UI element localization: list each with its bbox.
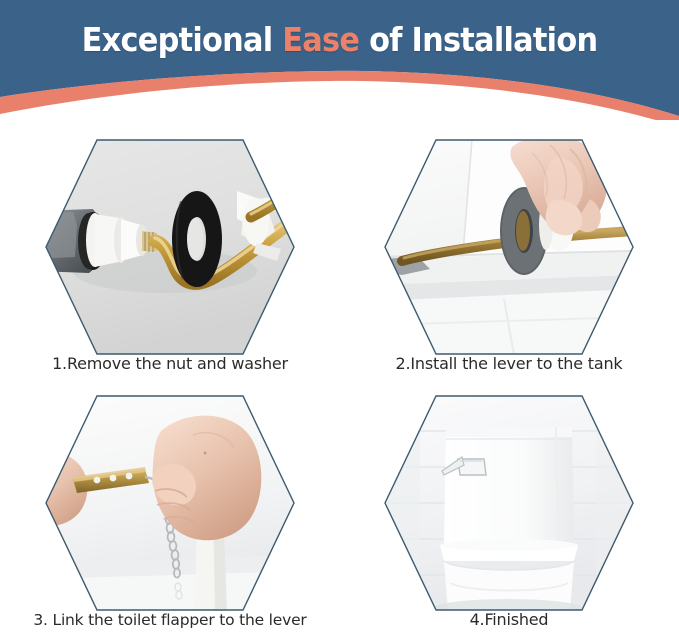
step-2-hexagon-frame	[384, 139, 634, 355]
install-lever-to-tank-photo	[384, 139, 634, 355]
header-banner: Exceptional Ease of Installation	[0, 0, 679, 120]
step-card-1: 1.Remove the nut and washer	[0, 120, 340, 382]
step-3-caption: 3. Link the toilet flapper to the lever	[0, 610, 340, 630]
step-card-2: 2.Install the lever to the tank	[339, 120, 679, 382]
step-card-3: 3. Link the toilet flapper to the lever	[0, 376, 340, 638]
finished-toilet-photo	[384, 395, 634, 611]
step-card-4: 4.Finished	[339, 376, 679, 638]
header-background-shape	[0, 0, 679, 120]
steps-grid: 1.Remove the nut and washer	[0, 120, 679, 644]
title-suffix: of Installation	[359, 20, 597, 59]
installation-steps-infographic: Exceptional Ease of Installation	[0, 0, 679, 644]
link-flapper-chain-to-lever-photo	[45, 395, 295, 611]
step-1-caption: 1.Remove the nut and washer	[0, 354, 340, 374]
title-prefix: Exceptional	[82, 20, 283, 59]
step-2-caption: 2.Install the lever to the tank	[339, 354, 679, 374]
step-3-hexagon-frame	[45, 395, 295, 611]
page-title: Exceptional Ease of Installation	[27, 21, 652, 59]
step-4-caption: 4.Finished	[339, 610, 679, 630]
title-accent-word: Ease	[282, 20, 359, 59]
step-1-hexagon-frame	[45, 139, 295, 355]
toilet-lever-nut-and-washer-photo	[45, 139, 295, 355]
step-4-hexagon-frame	[384, 395, 634, 611]
